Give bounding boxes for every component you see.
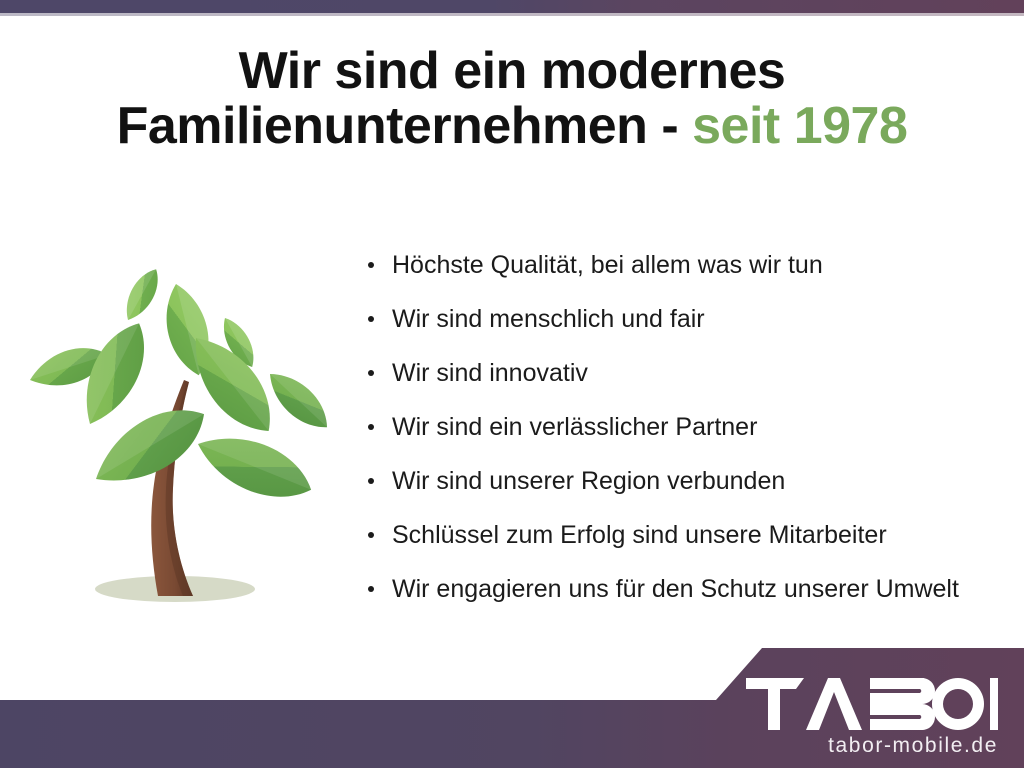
list-item: Wir sind menschlich und fair — [362, 300, 1022, 354]
list-item-label: Wir sind innovativ — [392, 359, 588, 387]
list-item-label: Schlüssel zum Erfolg sind unsere Mitarbe… — [392, 521, 887, 549]
value-bullet-list: Höchste Qualität, bei allem was wir tun … — [362, 246, 1022, 624]
list-item-label: Wir sind ein verlässlicher Partner — [392, 413, 757, 441]
list-item: Wir sind innovativ — [362, 354, 1022, 408]
list-item-label: Wir sind unserer Region verbunden — [392, 467, 785, 495]
bullet-dot-icon — [368, 424, 374, 430]
tree-leaf — [118, 264, 166, 326]
list-item-label: Wir sind menschlich und fair — [392, 305, 705, 333]
list-item-label: Wir engagieren uns für den Schutz unsere… — [392, 575, 959, 603]
tabor-wordmark-icon — [746, 678, 998, 730]
bullet-dot-icon — [368, 370, 374, 376]
bullet-dot-icon — [368, 262, 374, 268]
list-item-label: Höchste Qualität, bei allem was wir tun — [392, 251, 823, 279]
top-accent-bar — [0, 0, 1024, 13]
bullet-dot-icon — [368, 478, 374, 484]
list-item: Wir engagieren uns für den Schutz unsere… — [362, 570, 1022, 624]
title-line-2: Familienunternehmen - seit 1978 — [0, 99, 1024, 154]
page-title: Wir sind ein modernes Familienunternehme… — [0, 44, 1024, 154]
title-line-2-main: Familienunternehmen - — [117, 97, 693, 155]
brand-logo: tabor-mobile.de — [746, 678, 998, 758]
tree-illustration — [18, 262, 348, 610]
top-accent-bar-shadow — [0, 13, 1024, 16]
list-item: Wir sind ein verlässlicher Partner — [362, 408, 1022, 462]
title-accent-seit-1978: seit 1978 — [692, 97, 907, 155]
list-item: Schlüssel zum Erfolg sind unsere Mitarbe… — [362, 516, 1022, 570]
list-item: Höchste Qualität, bei allem was wir tun — [362, 246, 1022, 300]
bullet-dot-icon — [368, 316, 374, 322]
logo-domain-text: tabor-mobile.de — [746, 734, 998, 758]
bullet-dot-icon — [368, 532, 374, 538]
bullet-dot-icon — [368, 586, 374, 592]
title-line-1: Wir sind ein modernes — [0, 44, 1024, 99]
tree-leaf — [260, 363, 338, 438]
list-item: Wir sind unserer Region verbunden — [362, 462, 1022, 516]
presentation-slide: Wir sind ein modernes Familienunternehme… — [0, 0, 1024, 768]
tree-leaf — [189, 422, 320, 512]
